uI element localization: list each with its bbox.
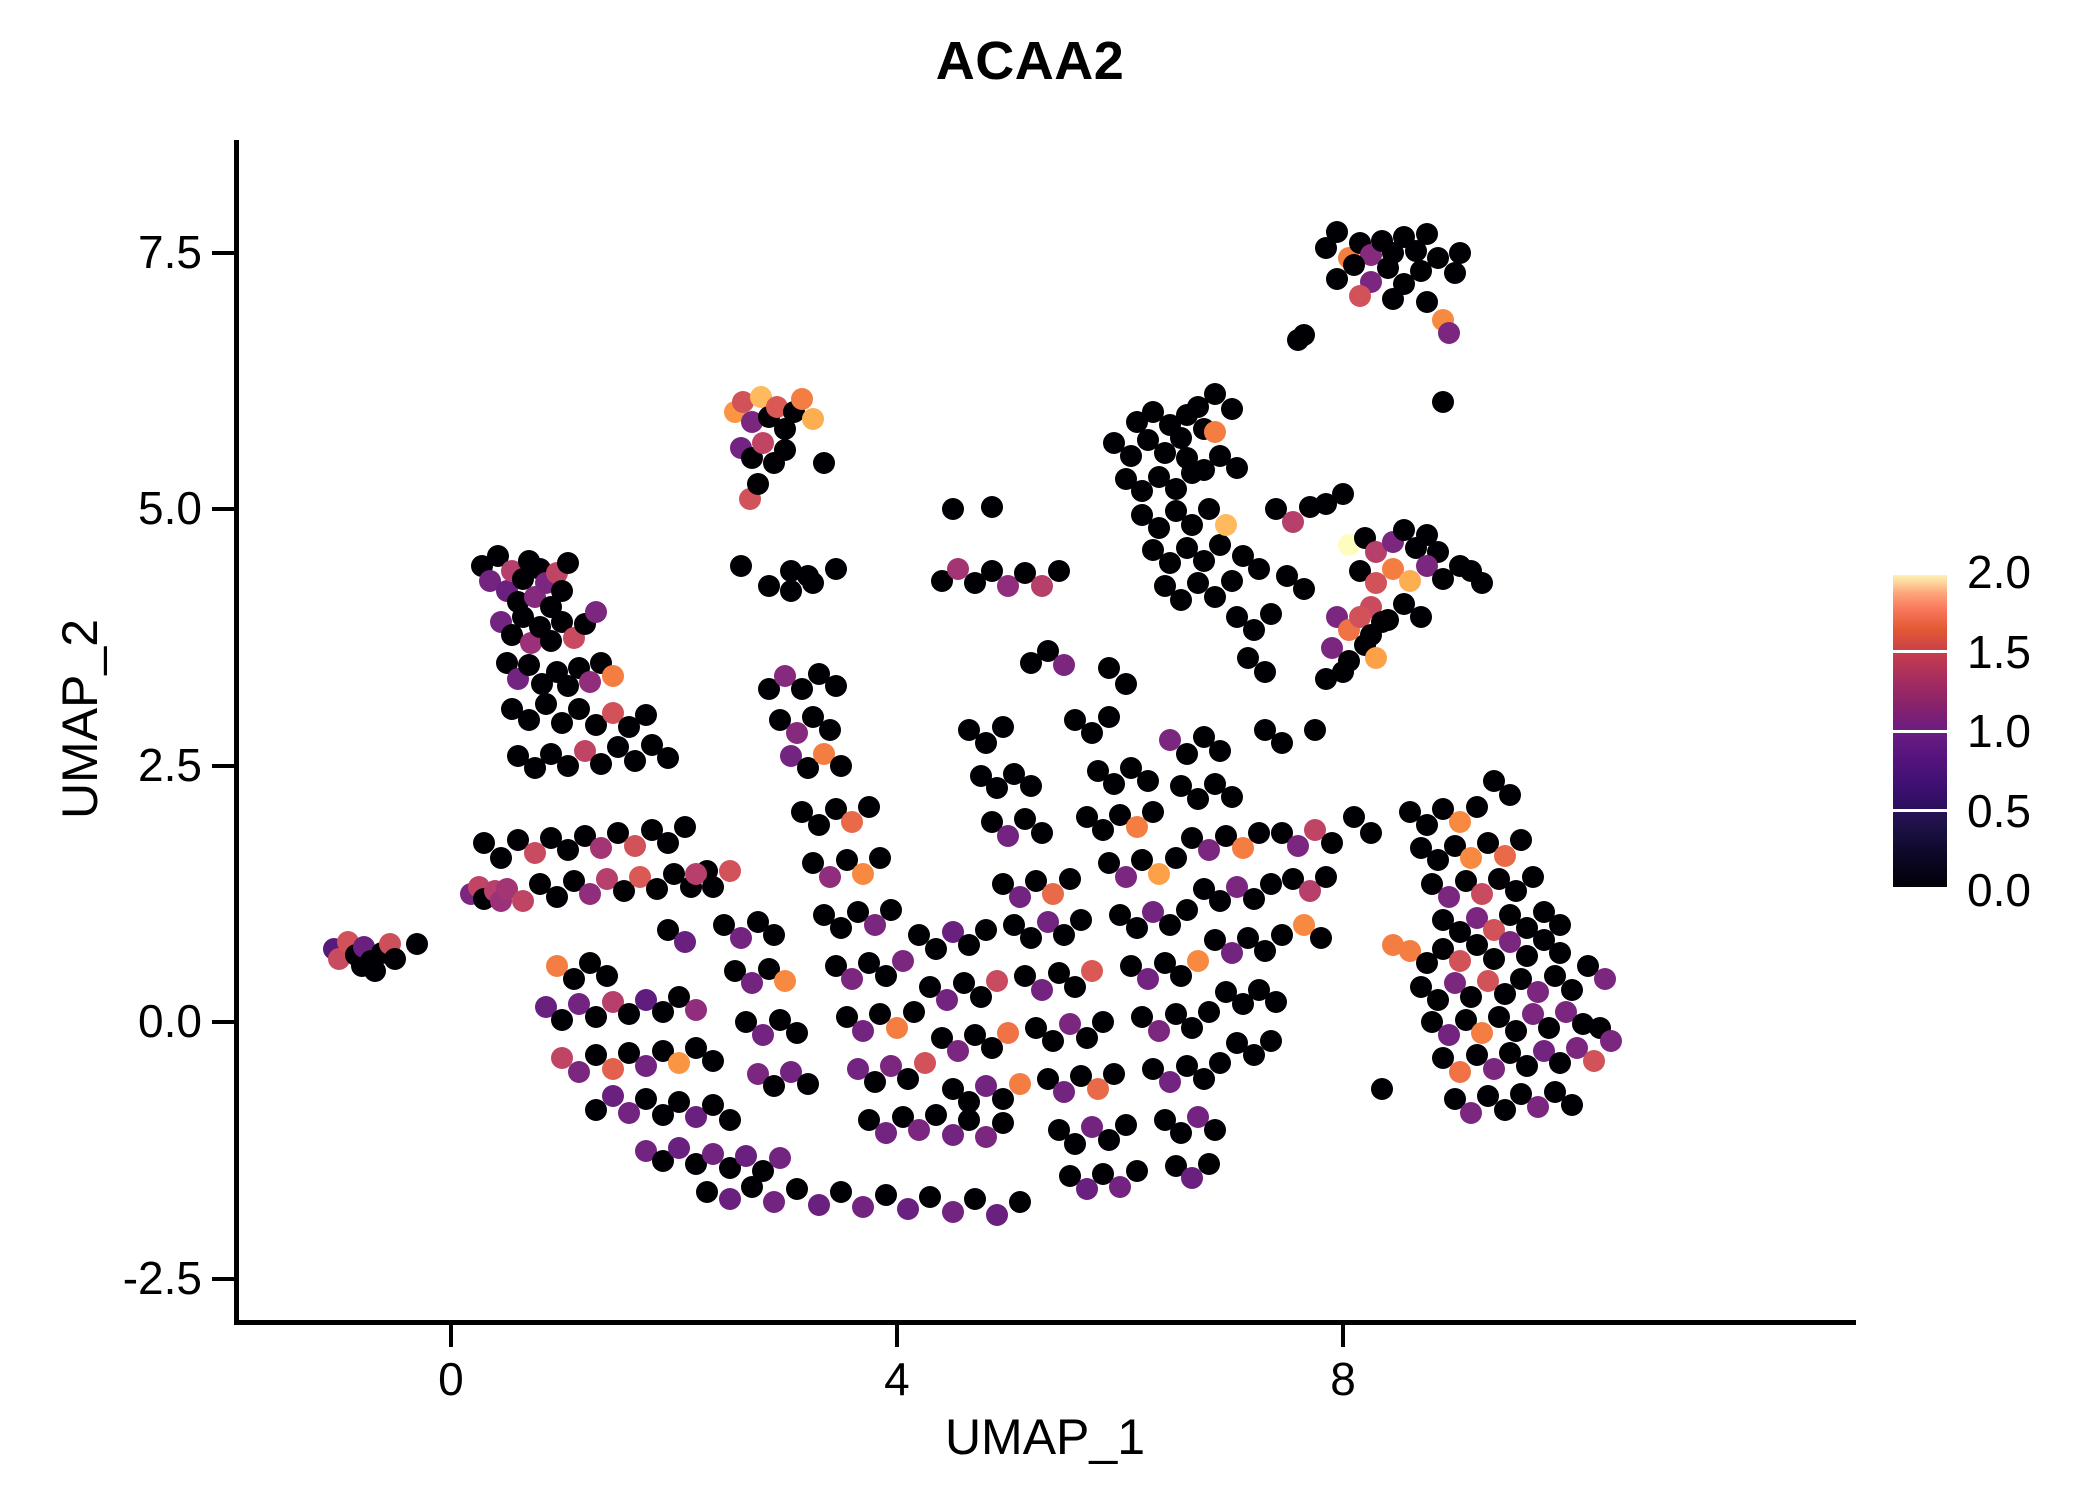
scatter-point (880, 899, 902, 921)
scatter-point (1204, 586, 1226, 608)
scatter-point (752, 432, 774, 454)
scatter-point (763, 924, 785, 946)
scatter-point (657, 747, 679, 769)
scatter-point (780, 580, 802, 602)
scatter-point (825, 675, 847, 697)
scatter-point (563, 968, 585, 990)
scatter-point (1009, 886, 1031, 908)
scatter-point (730, 555, 752, 577)
scatter-point (1042, 1030, 1064, 1052)
scatter-point (947, 1040, 969, 1062)
scatter-point (1221, 398, 1243, 420)
scatter-point (624, 750, 646, 772)
y-axis-tick-label: -2.5 (123, 1251, 202, 1305)
scatter-point (1176, 743, 1198, 765)
scatter-point (1081, 722, 1103, 744)
scatter-point (1444, 262, 1466, 284)
scatter-point (730, 927, 752, 949)
scatter-point (590, 753, 612, 775)
scatter-point (1198, 1153, 1220, 1175)
scatter-point (1254, 940, 1276, 962)
scatter-point (774, 439, 796, 461)
scatter-point (914, 1052, 936, 1074)
scatter-point (1293, 578, 1315, 600)
scatter-point (602, 1058, 624, 1080)
scatter-point (579, 671, 601, 693)
x-axis-tick-label: 0 (411, 1352, 491, 1406)
y-axis-tick-mark (212, 507, 234, 511)
scatter-point (1499, 784, 1521, 806)
y-axis-tick-label: 7.5 (138, 225, 202, 279)
scatter-point (596, 965, 618, 987)
scatter-point (1260, 1030, 1282, 1052)
scatter-point (1410, 606, 1432, 628)
scatter-point (1053, 1081, 1075, 1103)
scatter-point (1360, 822, 1382, 844)
scatter-point (518, 709, 540, 731)
scatter-point (1494, 845, 1516, 867)
scatter-point (992, 716, 1014, 738)
scatter-point (1181, 1017, 1203, 1039)
scatter-point (958, 1091, 980, 1113)
scatter-point (830, 755, 852, 777)
scatter-point (1187, 950, 1209, 972)
scatter-point (769, 1147, 791, 1169)
scatter-point (1209, 534, 1231, 556)
scatter-point (1399, 570, 1421, 592)
scatter-point (1193, 1068, 1215, 1090)
scatter-point (1260, 873, 1282, 895)
scatter-point (841, 811, 863, 833)
scatter-point (1165, 478, 1187, 500)
scatter-point (852, 1020, 874, 1042)
scatter-point (1193, 550, 1215, 572)
scatter-point (1460, 986, 1482, 1008)
scatter-point (1126, 917, 1148, 939)
scatter-point (997, 825, 1019, 847)
scatter-point (1053, 654, 1075, 676)
scatter-point (942, 498, 964, 520)
scatter-point (802, 408, 824, 430)
scatter-point (585, 1006, 607, 1028)
scatter-point (1120, 445, 1142, 467)
x-axis-tick-mark (895, 1325, 899, 1347)
scatter-point (602, 1085, 624, 1107)
scatter-point (1310, 927, 1332, 949)
colorbar-tick-mark (1893, 572, 1947, 575)
scatter-point (975, 732, 997, 754)
scatter-point (1148, 517, 1170, 539)
scatter-point (997, 1022, 1019, 1044)
scatter-point (1103, 1063, 1125, 1085)
scatter-point (1416, 291, 1438, 313)
scatter-point (1471, 572, 1493, 594)
x-axis-tick-mark (449, 1325, 453, 1347)
colorbar-legend: 0.00.51.01.52.0 (1893, 572, 2093, 902)
colorbar-tick-label: 1.0 (1967, 704, 2031, 758)
scatter-point (557, 552, 579, 574)
scatter-point (852, 1196, 874, 1218)
scatter-point (1115, 1114, 1137, 1136)
scatter-point (1326, 221, 1348, 243)
scatter-point (958, 934, 980, 956)
scatter-point (1059, 868, 1081, 890)
scatter-point (852, 863, 874, 885)
scatter-point (535, 693, 557, 715)
scatter-point (1416, 223, 1438, 245)
scatter-point (702, 876, 724, 898)
scatter-point (1449, 242, 1471, 264)
scatter-point (763, 1191, 785, 1213)
scatter-point (1031, 979, 1053, 1001)
scatter-point (791, 388, 813, 410)
scatter-point (1416, 814, 1438, 836)
umap-feature-plot: ACAA2 -2.50.02.55.07.5 048 UMAP_1 UMAP_2… (0, 0, 2100, 1500)
x-axis-tick-label: 8 (1303, 1352, 1383, 1406)
scatter-point (864, 1071, 886, 1093)
scatter-point (1594, 968, 1616, 990)
scatter-point (1538, 1017, 1560, 1039)
scatter-point (797, 565, 819, 587)
scatter-point (1549, 942, 1571, 964)
colorbar-tick-mark (1893, 650, 1947, 653)
scatter-point (886, 1017, 908, 1039)
colorbar-tick-label: 0.0 (1967, 863, 2031, 917)
scatter-point (668, 1052, 690, 1074)
scatter-plot-panel (239, 140, 1856, 1320)
colorbar-tick-label: 2.0 (1967, 545, 2031, 599)
scatter-point (1209, 740, 1231, 762)
scatter-point (903, 1001, 925, 1023)
scatter-point (1321, 832, 1343, 854)
y-axis-title: UMAP_2 (51, 369, 109, 1069)
scatter-point (1505, 1020, 1527, 1042)
scatter-point (986, 970, 1008, 992)
scatter-point (1460, 847, 1482, 869)
scatter-point (1098, 1129, 1120, 1151)
scatter-point (1159, 1071, 1181, 1093)
scatter-point (696, 1181, 718, 1203)
scatter-point (585, 601, 607, 623)
scatter-point (1031, 822, 1053, 844)
scatter-point (1081, 960, 1103, 982)
scatter-point (1260, 603, 1282, 625)
scatter-point (384, 948, 406, 970)
scatter-point (1243, 888, 1265, 910)
scatter-point (1365, 647, 1387, 669)
scatter-point (936, 989, 958, 1011)
scatter-point (892, 950, 914, 972)
y-axis-tick-label: 5.0 (138, 481, 202, 535)
scatter-point (786, 722, 808, 744)
scatter-point (1009, 1191, 1031, 1213)
colorbar-tick-mark (1893, 730, 1947, 733)
scatter-point (1064, 976, 1086, 998)
scatter-point (1126, 1160, 1148, 1182)
scatter-point (551, 580, 573, 602)
scatter-point (774, 970, 796, 992)
scatter-point (719, 1188, 741, 1210)
x-axis-line (234, 1320, 1856, 1325)
scatter-point (875, 1184, 897, 1206)
scatter-point (1020, 927, 1042, 949)
y-axis-tick-mark (212, 764, 234, 768)
scatter-point (1304, 719, 1326, 741)
scatter-point (685, 999, 707, 1021)
scatter-point (1315, 866, 1337, 888)
scatter-point (1349, 285, 1371, 307)
scatter-point (1148, 863, 1170, 885)
scatter-point (1483, 948, 1505, 970)
scatter-point (925, 938, 947, 960)
scatter-point (1527, 981, 1549, 1003)
scatter-point (1287, 835, 1309, 857)
scatter-point (1198, 1001, 1220, 1023)
scatter-point (1109, 1176, 1131, 1198)
scatter-point (1438, 886, 1460, 908)
scatter-point (1549, 1052, 1571, 1074)
scatter-point (825, 558, 847, 580)
scatter-point (964, 1188, 986, 1210)
scatter-point (1103, 773, 1125, 795)
scatter-point (1438, 322, 1460, 344)
scatter-point (1070, 909, 1092, 931)
scatter-point (702, 1050, 724, 1072)
scatter-point (1215, 514, 1237, 536)
scatter-point (1466, 796, 1488, 818)
scatter-point (568, 1061, 590, 1083)
scatter-point (875, 1122, 897, 1144)
scatter-point (813, 452, 835, 474)
scatter-point (1181, 514, 1203, 536)
scatter-point (808, 814, 830, 836)
scatter-point (1092, 1011, 1114, 1033)
scatter-point (858, 796, 880, 818)
scatter-point (1115, 866, 1137, 888)
scatter-point (1449, 950, 1471, 972)
scatter-point (1076, 1027, 1098, 1049)
scatter-point (992, 1088, 1014, 1110)
scatter-point (975, 919, 997, 941)
scatter-point (1204, 1119, 1226, 1141)
scatter-point (674, 931, 696, 953)
scatter-point (1137, 968, 1159, 990)
scatter-point (657, 832, 679, 854)
scatter-point (1516, 945, 1538, 967)
y-axis-tick-label: 0.0 (138, 994, 202, 1048)
scatter-point (875, 965, 897, 987)
scatter-point (1561, 979, 1583, 1001)
scatter-point (1031, 575, 1053, 597)
scatter-point (1471, 1022, 1493, 1044)
scatter-point (808, 1194, 830, 1216)
scatter-point (1449, 811, 1471, 833)
scatter-point (1176, 899, 1198, 921)
scatter-point (719, 860, 741, 882)
y-axis-tick-mark (212, 1277, 234, 1281)
scatter-point (1483, 1058, 1505, 1080)
scatter-point (1332, 483, 1354, 505)
scatter-point (869, 847, 891, 869)
scatter-point (1583, 1050, 1605, 1072)
scatter-point (674, 816, 696, 838)
scatter-point (841, 968, 863, 990)
scatter-point (1293, 324, 1315, 346)
x-axis-title: UMAP_1 (234, 1408, 1856, 1466)
scatter-point (1221, 570, 1243, 592)
scatter-point (1271, 732, 1293, 754)
scatter-point (1265, 991, 1287, 1013)
scatter-point (1042, 883, 1064, 905)
scatter-point (1170, 589, 1192, 611)
scatter-point (1148, 1020, 1170, 1042)
scatter-point (830, 1181, 852, 1203)
x-axis-tick-label: 4 (857, 1352, 937, 1406)
scatter-point (786, 1178, 808, 1200)
scatter-point (1248, 822, 1270, 844)
scatter-point (557, 755, 579, 777)
scatter-point (897, 1068, 919, 1090)
y-axis-tick-mark (212, 1020, 234, 1024)
scatter-point (1243, 619, 1265, 641)
colorbar-tick-mark (1893, 887, 1947, 890)
page-title: ACAA2 (0, 30, 2060, 92)
scatter-point (1460, 1102, 1482, 1124)
scatter-point (1561, 1094, 1583, 1116)
scatter-point (992, 1112, 1014, 1134)
scatter-point (925, 1104, 947, 1126)
scatter-point (1098, 706, 1120, 728)
scatter-point (1221, 786, 1243, 808)
scatter-point (1053, 924, 1075, 946)
x-axis-tick-mark (1341, 1325, 1345, 1347)
colorbar-tick-mark (1893, 809, 1947, 812)
scatter-point (1332, 661, 1354, 683)
scatter-point (1137, 770, 1159, 792)
scatter-point (786, 1022, 808, 1044)
scatter-point (758, 575, 780, 597)
y-axis-tick-label: 2.5 (138, 738, 202, 792)
y-axis-tick-mark (212, 251, 234, 255)
scatter-point (546, 886, 568, 908)
scatter-point (970, 986, 992, 1008)
scatter-point (1371, 1078, 1393, 1100)
scatter-point (719, 1109, 741, 1131)
scatter-point (1449, 1061, 1471, 1083)
scatter-point (897, 1198, 919, 1220)
scatter-point (1226, 457, 1248, 479)
scatter-point (1248, 558, 1270, 580)
scatter-point (830, 917, 852, 939)
scatter-point (1009, 1073, 1031, 1095)
scatter-point (1427, 989, 1449, 1011)
scatter-point (602, 665, 624, 687)
scatter-point (551, 1009, 573, 1031)
scatter-point (1165, 847, 1187, 869)
colorbar-tick-label: 0.5 (1967, 784, 2031, 838)
scatter-point (797, 1073, 819, 1095)
scatter-point (406, 933, 428, 955)
scatter-point (1382, 288, 1404, 310)
scatter-point (1170, 1122, 1192, 1144)
scatter-point (540, 630, 562, 652)
scatter-point (1600, 1030, 1622, 1052)
scatter-point (981, 496, 1003, 518)
scatter-point (1209, 1052, 1231, 1074)
scatter-point (819, 719, 841, 741)
scatter-point (919, 1186, 941, 1208)
scatter-point (741, 1176, 763, 1198)
scatter-point (624, 835, 646, 857)
scatter-point (1254, 661, 1276, 683)
scatter-point (1271, 924, 1293, 946)
scatter-point (512, 890, 534, 912)
scatter-point (1343, 254, 1365, 276)
scatter-point (1115, 673, 1137, 695)
scatter-point (635, 704, 657, 726)
scatter-point (942, 1201, 964, 1223)
scatter-point (1204, 421, 1226, 443)
scatter-point (1510, 829, 1532, 851)
scatter-point (986, 1204, 1008, 1226)
colorbar-tick-label: 1.5 (1967, 625, 2031, 679)
scatter-point (1142, 801, 1164, 823)
scatter-point (1020, 775, 1042, 797)
scatter-point (1432, 391, 1454, 413)
scatter-point (490, 847, 512, 869)
scatter-point (819, 866, 841, 888)
scatter-point (747, 473, 769, 495)
scatter-point (1522, 866, 1544, 888)
scatter-point (1048, 560, 1070, 582)
scatter-point (1064, 1133, 1086, 1155)
